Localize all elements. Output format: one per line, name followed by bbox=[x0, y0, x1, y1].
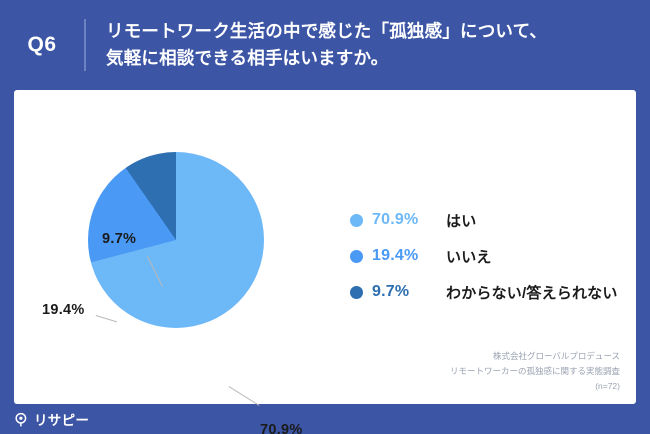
slice-label-yes: 70.9% bbox=[260, 422, 303, 434]
credit-company: 株式会社グローバルプロデュース bbox=[450, 349, 620, 364]
legend-percent-yes: 70.9% bbox=[372, 211, 446, 229]
credit-block: 株式会社グローバルプロデュース リモートワーカーの孤独感に関する実態調査 (n=… bbox=[450, 349, 620, 394]
chart-legend: 70.9% はい 19.4% いいえ 9.7% わからない/答えられない bbox=[350, 202, 640, 310]
legend-swatch-icon-yes bbox=[350, 214, 363, 227]
survey-result-slide: Q6 リモートワーク生活の中で感じた「孤独感」について、 気軽に相談できる相手は… bbox=[0, 0, 650, 434]
legend-swatch-icon-dontknow bbox=[350, 286, 363, 299]
question-number: Q6 bbox=[0, 33, 84, 57]
brand-logo-text: リサピー bbox=[34, 409, 89, 429]
legend-label-no: いいえ bbox=[446, 246, 492, 267]
legend-label-dontknow: わからない/答えられない bbox=[446, 282, 618, 303]
slice-label-dontknow: 9.7% bbox=[102, 231, 136, 247]
credit-sample-size: (n=72) bbox=[450, 379, 620, 394]
legend-label-yes: はい bbox=[446, 210, 476, 231]
question-title-line-1: リモートワーク生活の中で感じた「孤独感」について、 bbox=[106, 18, 632, 45]
legend-item-no[interactable]: 19.4% いいえ bbox=[350, 238, 640, 274]
question-title-line-2: 気軽に相談できる相手はいますか。 bbox=[106, 45, 632, 72]
legend-item-yes[interactable]: 70.9% はい bbox=[350, 202, 640, 238]
header-divider bbox=[84, 19, 86, 71]
legend-swatch-icon-no bbox=[350, 250, 363, 263]
legend-percent-dontknow: 9.7% bbox=[372, 283, 446, 301]
credit-survey-title: リモートワーカーの孤独感に関する実態調査 bbox=[450, 364, 620, 379]
brand-logo[interactable]: リサピー bbox=[0, 404, 122, 434]
search-pin-icon bbox=[14, 412, 29, 427]
slice-label-no: 19.4% bbox=[42, 302, 85, 318]
legend-item-dontknow[interactable]: 9.7% わからない/答えられない bbox=[350, 274, 640, 310]
leader-line-yes bbox=[228, 386, 259, 406]
question-title: リモートワーク生活の中で感じた「孤独感」について、 気軽に相談できる相手はいます… bbox=[106, 18, 650, 71]
chart-card: 9.7% 19.4% 70.9% 70.9% はい 19.4% いいえ 9.7%… bbox=[14, 90, 636, 404]
legend-percent-no: 19.4% bbox=[372, 247, 446, 265]
leader-line-no bbox=[96, 315, 117, 322]
pie-chart: 9.7% 19.4% 70.9% bbox=[14, 90, 344, 404]
slide-header: Q6 リモートワーク生活の中で感じた「孤独感」について、 気軽に相談できる相手は… bbox=[0, 0, 650, 90]
